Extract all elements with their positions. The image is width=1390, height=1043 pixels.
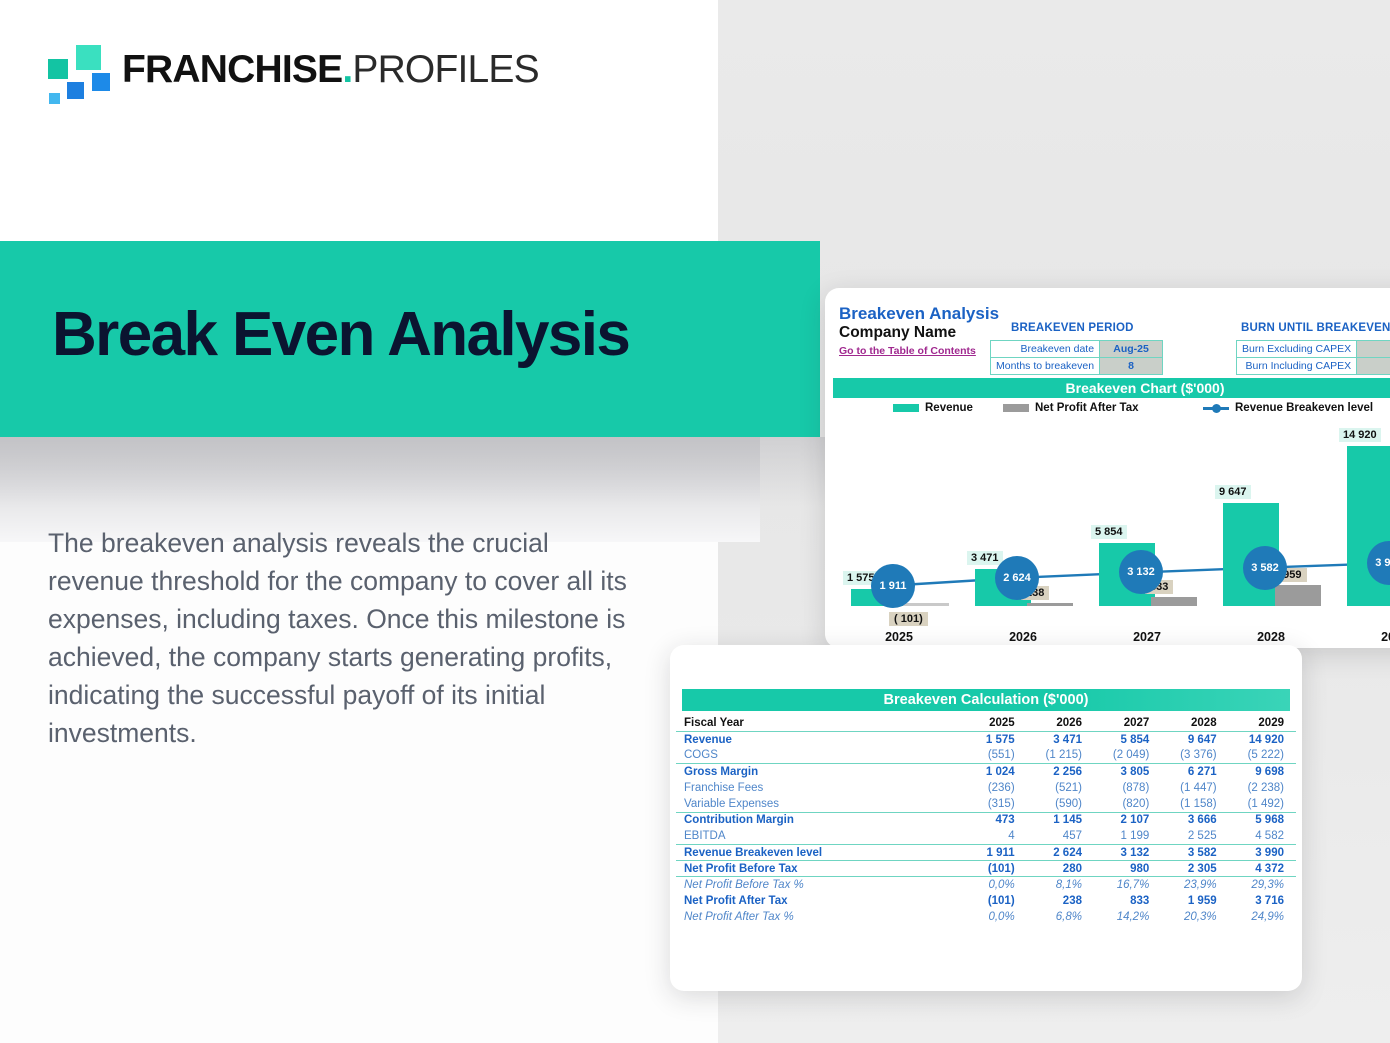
- burn-including-capex-value: [1357, 358, 1390, 375]
- cell-2029: 3 990: [1229, 845, 1296, 861]
- cell-2026: 3 471: [1027, 731, 1094, 747]
- brand-dot: .: [342, 48, 352, 91]
- legend-swatch-net-profit-icon: [1003, 404, 1029, 412]
- cell-2025: (551): [959, 747, 1026, 763]
- table-row: Months to breakeven 8: [991, 358, 1163, 375]
- cell-2028: (1 447): [1161, 780, 1228, 796]
- row-label-revenue-breakeven-level: Revenue Breakeven level: [676, 845, 959, 861]
- x-axis-label-2028: 2028: [1209, 630, 1333, 644]
- cell-2028: (1 158): [1161, 796, 1228, 812]
- burn-until-breakeven-table: Burn Excluding CAPEX Burn Including CAPE…: [1236, 340, 1390, 375]
- cell-2026: 8,1%: [1027, 877, 1094, 893]
- cell-2026: 1 145: [1027, 812, 1094, 828]
- cell-2028: 2 305: [1161, 861, 1228, 877]
- months-to-breakeven-label: Months to breakeven: [991, 358, 1100, 375]
- cell-2029: 4 582: [1229, 828, 1296, 844]
- breakeven-calculation-card: Breakeven Calculation ($'000) Fiscal Yea…: [670, 645, 1302, 991]
- chart-card-company: Company Name: [839, 324, 956, 342]
- x-axis-label-2025: 2025: [837, 630, 961, 644]
- legend-swatch-revenue-icon: [893, 404, 919, 412]
- cell-2029: (5 222): [1229, 747, 1296, 763]
- legend-label-net-profit-after-tax: Net Profit After Tax: [1035, 402, 1139, 414]
- cell-2025: 0,0%: [959, 909, 1026, 925]
- x-axis-label-2027: 2027: [1085, 630, 1209, 644]
- cell-2025: 1 024: [959, 764, 1026, 780]
- table-row: Burn Including CAPEX: [1237, 358, 1390, 375]
- cell-2029: 4 372: [1229, 861, 1296, 877]
- cell-2029: 3 716: [1229, 893, 1296, 909]
- net-profit-bar: [1275, 585, 1321, 606]
- cell-2025: 1 575: [959, 731, 1026, 747]
- column-header-2029: 2029: [1229, 715, 1296, 731]
- table-row: Gross Margin1 0242 2563 8056 2719 698: [676, 764, 1296, 780]
- table-row: Net Profit After Tax(101)2388331 9593 71…: [676, 893, 1296, 909]
- brand-name-light: PROFILES: [352, 48, 539, 91]
- legend-item-net-profit-after-tax: Net Profit After Tax: [1003, 402, 1139, 414]
- cell-2025: (315): [959, 796, 1026, 812]
- cell-2028: 20,3%: [1161, 909, 1228, 925]
- legend-label-revenue-breakeven-level: Revenue Breakeven level: [1235, 402, 1373, 414]
- cell-2029: 29,3%: [1229, 877, 1296, 893]
- table-header-row: Fiscal Year 2025 2026 2027 2028 2029: [676, 715, 1296, 731]
- table-row: Breakeven date Aug-25: [991, 341, 1163, 358]
- cell-2028: (3 376): [1161, 747, 1228, 763]
- revenue-value-label: 9 647: [1215, 485, 1251, 499]
- breakeven-chart-card: Breakeven Analysis Company Name Go to th…: [825, 288, 1390, 648]
- breakeven-level-marker-2028: 3 582: [1243, 546, 1287, 590]
- table-row: COGS(551)(1 215)(2 049)(3 376)(5 222): [676, 747, 1296, 763]
- calculation-table-title: Breakeven Calculation ($'000): [682, 689, 1290, 711]
- table-row: Variable Expenses(315)(590)(820)(1 158)(…: [676, 796, 1296, 812]
- description-paragraph: The breakeven analysis reveals the cruci…: [48, 524, 638, 752]
- cell-2026: (590): [1027, 796, 1094, 812]
- breakeven-period-heading: BREAKEVEN PERIOD: [1011, 322, 1134, 334]
- table-row: Net Profit After Tax %0,0%6,8%14,2%20,3%…: [676, 909, 1296, 925]
- burn-excluding-capex-label: Burn Excluding CAPEX: [1237, 341, 1357, 358]
- cell-2028: 9 647: [1161, 731, 1228, 747]
- table-row: Revenue Breakeven level1 9112 6243 1323 …: [676, 845, 1296, 861]
- cell-2028: 23,9%: [1161, 877, 1228, 893]
- cell-2027: 3 805: [1094, 764, 1161, 780]
- table-row: EBITDA44571 1992 5254 582: [676, 828, 1296, 844]
- cell-2028: 2 525: [1161, 828, 1228, 844]
- row-label-net-profit-after-tax: Net Profit After Tax %: [676, 909, 959, 925]
- column-header-2027: 2027: [1094, 715, 1161, 731]
- cell-2027: 16,7%: [1094, 877, 1161, 893]
- row-label-gross-margin: Gross Margin: [676, 764, 959, 780]
- revenue-value-label: 3 471: [967, 551, 1003, 565]
- table-row: Franchise Fees(236)(521)(878)(1 447)(2 2…: [676, 780, 1296, 796]
- row-label-net-profit-before-tax: Net Profit Before Tax: [676, 861, 959, 877]
- cell-2029: (1 492): [1229, 796, 1296, 812]
- net-profit-bar: [1027, 603, 1073, 606]
- cell-2026: 2 624: [1027, 845, 1094, 861]
- logo-squares-icon: [46, 42, 108, 97]
- cell-2028: 1 959: [1161, 893, 1228, 909]
- column-header-2028: 2028: [1161, 715, 1228, 731]
- cell-2028: 6 271: [1161, 764, 1228, 780]
- x-axis-label-2029: 2029: [1333, 630, 1390, 644]
- cell-2029: 14 920: [1229, 731, 1296, 747]
- cell-2025: 1 911: [959, 845, 1026, 861]
- cell-2029: 5 968: [1229, 812, 1296, 828]
- cell-2029: 24,9%: [1229, 909, 1296, 925]
- cell-2027: 14,2%: [1094, 909, 1161, 925]
- cell-2027: (2 049): [1094, 747, 1161, 763]
- x-axis-label-2026: 2026: [961, 630, 1085, 644]
- table-row: Revenue1 5753 4715 8549 64714 920: [676, 731, 1296, 747]
- row-label-net-profit-before-tax: Net Profit Before Tax %: [676, 877, 959, 893]
- burn-including-capex-label: Burn Including CAPEX: [1237, 358, 1357, 375]
- revenue-value-label: 14 920: [1339, 428, 1381, 442]
- cell-2026: (1 215): [1027, 747, 1094, 763]
- cell-2029: 9 698: [1229, 764, 1296, 780]
- cell-2025: (101): [959, 861, 1026, 877]
- burn-excluding-capex-value: [1357, 341, 1390, 358]
- row-label-net-profit-after-tax: Net Profit After Tax: [676, 893, 959, 909]
- cell-2027: 2 107: [1094, 812, 1161, 828]
- cell-2027: 980: [1094, 861, 1161, 877]
- row-label-ebitda: EBITDA: [676, 828, 959, 844]
- cell-2027: 1 199: [1094, 828, 1161, 844]
- legend-label-revenue: Revenue: [925, 402, 973, 414]
- table-row: Contribution Margin4731 1452 1073 6665 9…: [676, 812, 1296, 828]
- table-row: Net Profit Before Tax %0,0%8,1%16,7%23,9…: [676, 877, 1296, 893]
- net-profit-bar: [903, 603, 949, 606]
- cell-2025: (236): [959, 780, 1026, 796]
- table-row: Net Profit Before Tax(101)2809802 3054 3…: [676, 861, 1296, 877]
- cell-2027: 3 132: [1094, 845, 1161, 861]
- table-row: Burn Excluding CAPEX: [1237, 341, 1390, 358]
- net-profit-bar: [1151, 597, 1197, 606]
- column-header-2025: 2025: [959, 715, 1026, 731]
- breakeven-date-value: Aug-25: [1100, 341, 1163, 358]
- cell-2025: 473: [959, 812, 1026, 828]
- brand-wordmark: FRANCHISE.PROFILES: [122, 50, 539, 89]
- table-of-contents-link[interactable]: Go to the Table of Contents: [839, 345, 976, 357]
- breakeven-date-label: Breakeven date: [991, 341, 1100, 358]
- chart-legend: Revenue Net Profit After Tax Revenue Bre…: [825, 402, 1390, 422]
- months-to-breakeven-value: 8: [1100, 358, 1163, 375]
- chart-title-bar: Breakeven Chart ($'000): [833, 378, 1390, 398]
- brand-name-bold: FRANCHISE: [122, 48, 342, 91]
- breakeven-calculation-table: Fiscal Year 2025 2026 2027 2028 2029 Rev…: [676, 715, 1296, 925]
- net-profit-value-label: ( 101): [889, 612, 928, 626]
- cell-2025: 0,0%: [959, 877, 1026, 893]
- cell-2025: 4: [959, 828, 1026, 844]
- row-label-variable-expenses: Variable Expenses: [676, 796, 959, 812]
- cell-2025: (101): [959, 893, 1026, 909]
- revenue-value-label: 5 854: [1091, 525, 1127, 539]
- row-label-revenue: Revenue: [676, 731, 959, 747]
- column-header-2026: 2026: [1027, 715, 1094, 731]
- breakeven-period-table: Breakeven date Aug-25 Months to breakeve…: [990, 340, 1163, 375]
- cell-2026: 238: [1027, 893, 1094, 909]
- cell-2027: 5 854: [1094, 731, 1161, 747]
- legend-item-revenue-breakeven-level: Revenue Breakeven level: [1203, 402, 1373, 414]
- burn-until-breakeven-heading: BURN UNTIL BREAKEVEN: [1241, 322, 1390, 334]
- cell-2028: 3 582: [1161, 845, 1228, 861]
- cell-2028: 3 666: [1161, 812, 1228, 828]
- row-label-contribution-margin: Contribution Margin: [676, 812, 959, 828]
- cell-2027: (820): [1094, 796, 1161, 812]
- row-label-franchise-fees: Franchise Fees: [676, 780, 959, 796]
- cell-2026: 6,8%: [1027, 909, 1094, 925]
- background-white-top: [0, 0, 718, 241]
- brand-logo: FRANCHISE.PROFILES: [46, 42, 539, 97]
- cell-2029: (2 238): [1229, 780, 1296, 796]
- cell-2026: 457: [1027, 828, 1094, 844]
- cell-2026: 2 256: [1027, 764, 1094, 780]
- chart-card-title: Breakeven Analysis: [839, 304, 999, 324]
- legend-item-revenue: Revenue: [893, 402, 973, 414]
- cell-2027: (878): [1094, 780, 1161, 796]
- chart-plot-area: 1 575( 101)20253 47123820265 85483320279…: [825, 426, 1390, 648]
- cell-2027: 833: [1094, 893, 1161, 909]
- row-label-cogs: COGS: [676, 747, 959, 763]
- cell-2026: 280: [1027, 861, 1094, 877]
- legend-swatch-breakeven-line-icon: [1203, 404, 1229, 412]
- page-title: Break Even Analysis: [52, 304, 629, 366]
- cell-2026: (521): [1027, 780, 1094, 796]
- breakeven-level-marker-2025: 1 911: [871, 564, 915, 608]
- column-header-fiscal-year: Fiscal Year: [676, 715, 959, 731]
- breakeven-level-marker-2026: 2 624: [995, 556, 1039, 600]
